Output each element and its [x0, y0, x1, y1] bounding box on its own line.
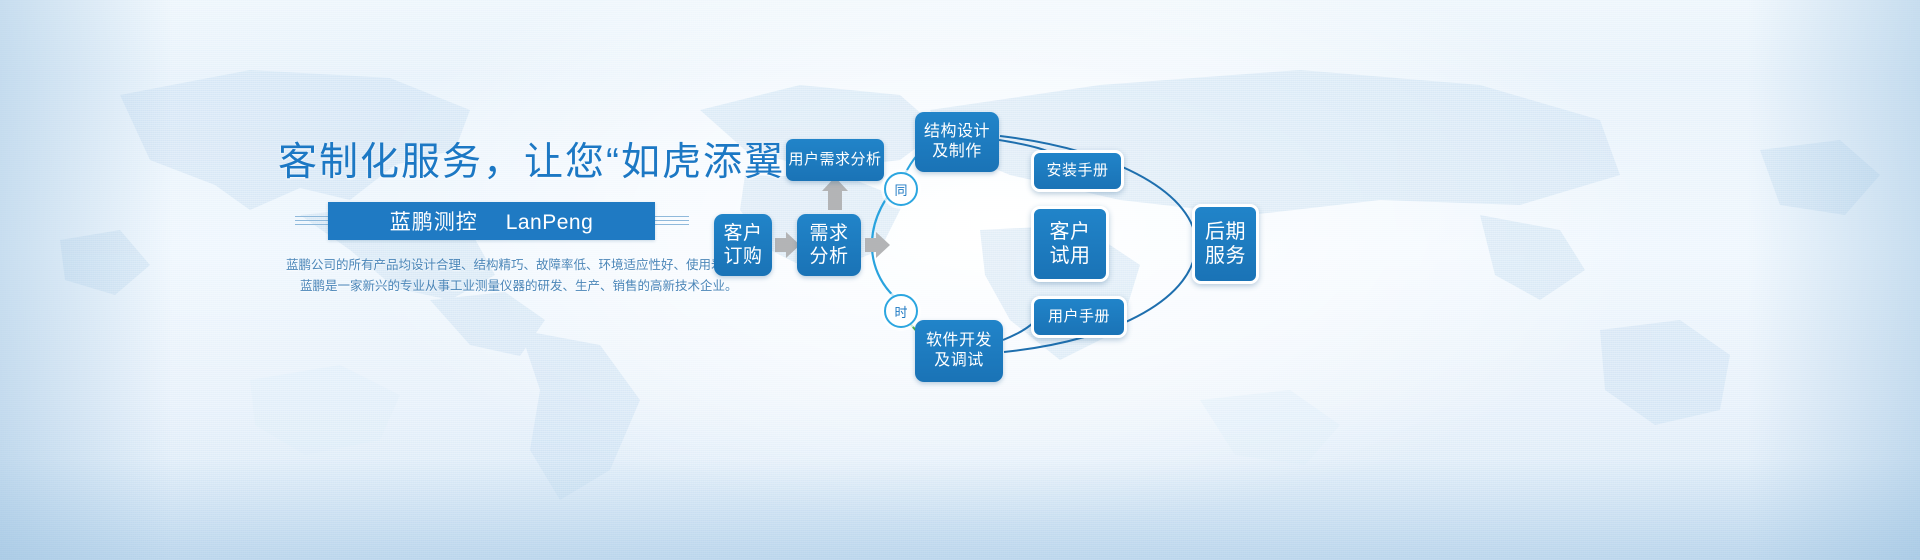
arrow-demand-to-cycle: [865, 238, 877, 252]
badge-shi: 时: [884, 294, 918, 328]
flow-box-user-need[interactable]: 用户需求分析: [786, 139, 884, 181]
flow-box-after-service[interactable]: 后期 服务: [1192, 204, 1259, 284]
flow-box-install-manual[interactable]: 安装手册: [1031, 150, 1124, 192]
flow-box-software-development[interactable]: 软件开发 及调试: [915, 320, 1003, 382]
arrow-demand-to-user-need: [828, 190, 842, 210]
arrow-order-to-demand: [775, 238, 787, 252]
flow-box-customer-order[interactable]: 客户 订购: [714, 214, 772, 276]
flow-box-customer-trial[interactable]: 客户 试用: [1031, 206, 1109, 282]
flow-box-demand-analysis[interactable]: 需求 分析: [797, 214, 861, 276]
flow-box-user-manual[interactable]: 用户手册: [1031, 296, 1127, 338]
badge-tong: 同: [884, 172, 918, 206]
process-flow-diagram: 用户需求分析 客户 订购 需求 分析 结构设计 及制作 软件开发 及调试 安装手…: [0, 0, 1920, 560]
banner-stage: 客制化服务，让您“如虎添翼” 蓝鹏测控LanPeng 蓝鹏公司的所有产品均设计合…: [0, 0, 1920, 560]
flow-box-structure-design[interactable]: 结构设计 及制作: [915, 112, 999, 172]
flow-connectors: [0, 0, 1920, 560]
